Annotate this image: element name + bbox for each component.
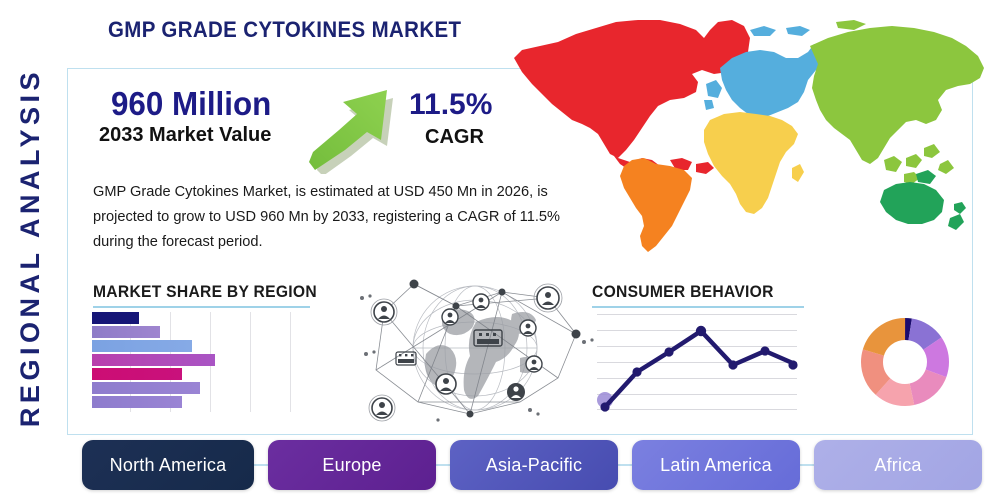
region-tab-latin-america[interactable]: Latin America	[632, 440, 800, 490]
cagr-caption: CAGR	[425, 126, 484, 149]
summary-paragraph: GMP Grade Cytokines Market, is estimated…	[93, 180, 588, 255]
region-tabs: North America Europe Asia-Pacific Latin …	[82, 440, 962, 490]
region-tab-label: Latin America	[660, 455, 772, 476]
section-rule-market-share	[93, 306, 310, 308]
market-share-bar-chart	[92, 312, 322, 412]
side-label-text: REGIONAL ANALYSIS	[15, 68, 46, 427]
bar-1	[92, 312, 139, 324]
region-tab-label: North America	[110, 455, 227, 476]
market-value-figure: 960 Million	[111, 85, 271, 123]
bar-3	[92, 340, 192, 352]
cagr-figure: 11.5%	[409, 88, 492, 122]
bar-7	[92, 396, 182, 408]
region-tab-label: Europe	[322, 455, 381, 476]
network-globe-icon	[352, 262, 598, 434]
region-tab-label: Asia-Pacific	[486, 455, 582, 476]
region-tab-europe[interactable]: Europe	[268, 440, 436, 490]
region-tab-asia-pacific[interactable]: Asia-Pacific	[450, 440, 618, 490]
bar-6	[92, 382, 200, 394]
bar-4	[92, 354, 215, 366]
bar-row	[92, 396, 322, 408]
region-tab-label: Africa	[874, 455, 921, 476]
bar-row	[92, 368, 322, 380]
bar-row	[92, 326, 322, 338]
bar-row	[92, 312, 322, 324]
growth-arrow-icon	[307, 82, 417, 174]
section-rule-consumer-behavior	[592, 306, 804, 308]
kpi-block: 960 Million 2033 Market Value 11.5% CAGR	[95, 88, 515, 170]
consumer-behavior-donut-chart	[849, 306, 961, 418]
section-header-market-share: MARKET SHARE BY REGION	[93, 282, 310, 308]
region-tab-africa[interactable]: Africa	[814, 440, 982, 490]
bar-row	[92, 382, 322, 394]
regional-analysis-side-label: REGIONAL ANALYSIS	[6, 48, 54, 448]
consumer-behavior-line-chart	[597, 310, 797, 413]
region-tab-north-america[interactable]: North America	[82, 440, 254, 490]
section-title-market-share: MARKET SHARE BY REGION	[93, 282, 293, 302]
bar-row	[92, 354, 322, 366]
bar-5	[92, 368, 182, 380]
section-header-consumer-behavior: CONSUMER BEHAVIOR	[592, 282, 804, 308]
section-title-consumer-behavior: CONSUMER BEHAVIOR	[592, 282, 787, 302]
infographic-root: REGIONAL ANALYSIS GMP GRADE CYTOKINES MA…	[0, 0, 1000, 500]
bar-row	[92, 340, 322, 352]
market-value-caption: 2033 Market Value	[99, 124, 271, 147]
page-title: GMP GRADE CYTOKINES MARKET	[108, 17, 461, 43]
bar-2	[92, 326, 160, 338]
